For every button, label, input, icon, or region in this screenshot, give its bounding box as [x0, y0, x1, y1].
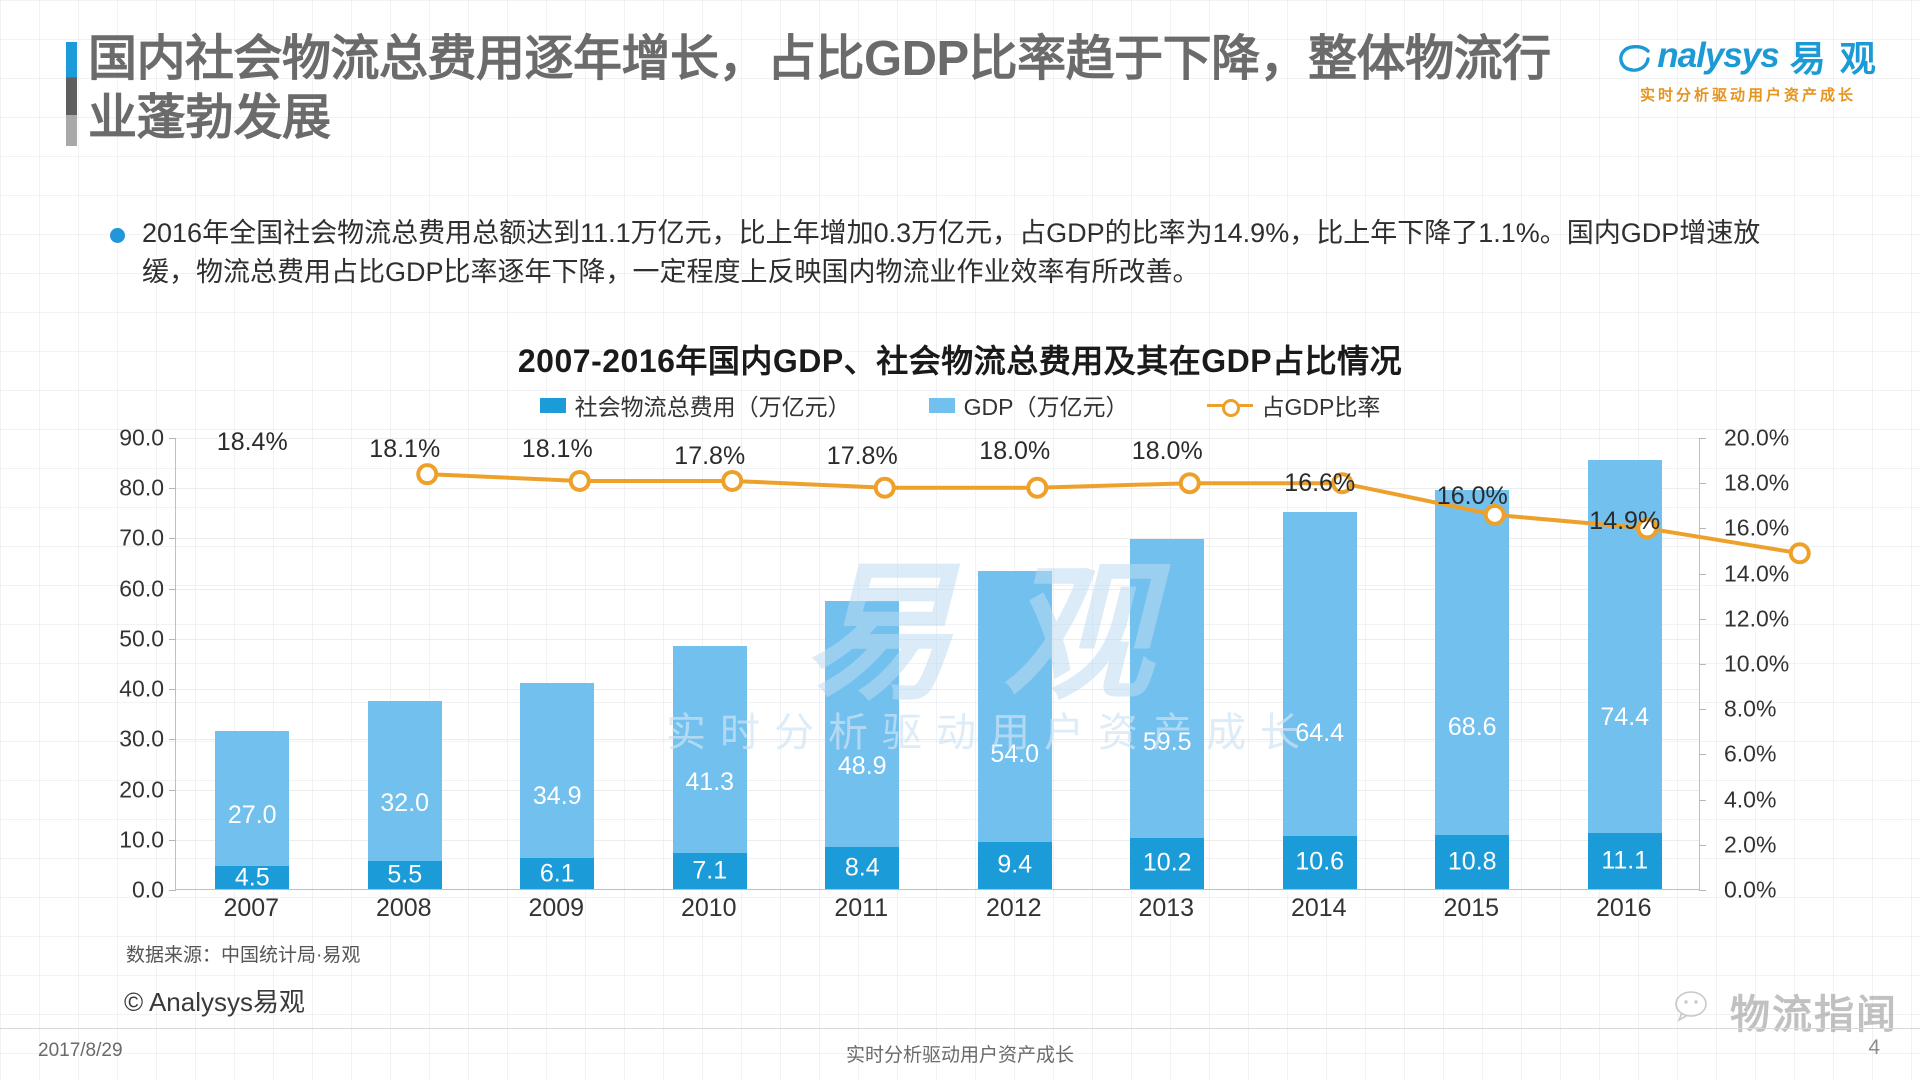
x-axis-labels: 2007200820092010201120122013201420152016 [175, 894, 1700, 934]
title-accent-bar [66, 42, 77, 146]
bullet-dot-icon [110, 228, 125, 243]
bar-label-gdp: 64.4 [1283, 719, 1357, 748]
y-axis-tick-left: 80.0 [119, 475, 164, 502]
legend-label-ratio: 占GDP比率 [1262, 388, 1381, 422]
bar-column: 34.96.1 [520, 683, 594, 889]
ratio-data-label: 16.6% [1284, 469, 1355, 498]
ratio-data-label: 16.0% [1437, 482, 1508, 511]
bar-column: 41.37.1 [673, 646, 747, 889]
y-axis-tick-right: 4.0% [1724, 786, 1776, 813]
bar-label-logistics: 4.5 [215, 863, 289, 892]
data-source-note: 数据来源：中国统计局·易观 [126, 940, 360, 967]
bar-segment-gdp: 48.9 [825, 601, 899, 847]
bar-segment-logistics: 6.1 [520, 858, 594, 889]
y-axis-right: 0.0%2.0%4.0%6.0%8.0%10.0%12.0%14.0%16.0%… [1718, 438, 1828, 890]
legend-item-logistics: 社会物流总费用（万亿元） [540, 388, 851, 422]
wechat-watermark-text: 物流指闻 [1730, 982, 1898, 1040]
bar-segment-logistics: 10.8 [1435, 835, 1509, 889]
bar-label-logistics: 10.6 [1283, 848, 1357, 877]
y-axis-tick-left: 40.0 [119, 676, 164, 703]
bar-label-gdp: 41.3 [673, 768, 747, 797]
axis-tickmark [169, 790, 176, 791]
y-axis-tick-left: 60.0 [119, 575, 164, 602]
bullet-paragraph: 2016年全国社会物流总费用总额达到11.1万亿元，比上年增加0.3万亿元，占G… [110, 214, 1810, 293]
footer-page-number: 4 [1868, 1036, 1880, 1060]
bar-column: 32.05.5 [368, 701, 442, 889]
plot-canvas: 27.04.532.05.534.96.141.37.148.98.454.09… [175, 438, 1700, 890]
legend-swatch-logistics-icon [540, 398, 566, 413]
chart-plot-area: 0.010.020.030.040.050.060.070.080.090.0 … [0, 438, 1920, 898]
axis-tickmark [1699, 890, 1706, 891]
wechat-icon [1674, 989, 1720, 1034]
y-axis-tick-right: 6.0% [1724, 741, 1776, 768]
x-axis-tick-label: 2007 [223, 894, 279, 923]
x-axis-tick-label: 2009 [528, 894, 584, 923]
bar-segment-logistics: 5.5 [368, 861, 442, 889]
logo-wordmark: nalysys易 观 [1616, 30, 1880, 82]
axis-tickmark [169, 639, 176, 640]
axis-tickmark [1699, 845, 1706, 846]
y-axis-tick-left: 30.0 [119, 726, 164, 753]
axis-tickmark [1699, 800, 1706, 801]
ratio-data-label: 18.1% [369, 435, 440, 464]
ratio-data-label: 18.0% [979, 437, 1050, 466]
bar-label-logistics: 11.1 [1588, 847, 1662, 876]
y-axis-tick-left: 10.0 [119, 826, 164, 853]
bar-label-logistics: 10.2 [1130, 849, 1204, 878]
axis-tickmark [169, 438, 176, 439]
bar-label-logistics: 5.5 [368, 861, 442, 890]
bar-column: 64.410.6 [1283, 512, 1357, 889]
bar-label-gdp: 32.0 [368, 789, 442, 818]
axis-tickmark [169, 538, 176, 539]
chart-title: 2007-2016年国内GDP、社会物流总费用及其在GDP占比情况 [0, 336, 1920, 382]
x-axis-tick-label: 2013 [1138, 894, 1194, 923]
bar-label-gdp: 68.6 [1435, 713, 1509, 742]
logo-chinese-text: 易 观 [1790, 30, 1878, 82]
y-axis-tick-right: 8.0% [1724, 696, 1776, 723]
y-axis-tick-right: 12.0% [1724, 605, 1789, 632]
bar-label-gdp: 48.9 [825, 752, 899, 781]
x-axis-tick-label: 2016 [1596, 894, 1652, 923]
legend-swatch-gdp-icon [929, 398, 955, 413]
bar-label-logistics: 7.1 [673, 857, 747, 886]
axis-tickmark [169, 739, 176, 740]
legend-item-ratio: 占GDP比率 [1207, 388, 1381, 422]
logo-tagline: 实时分析驱动用户资产成长 [1616, 84, 1880, 105]
bar-column: 27.04.5 [215, 731, 289, 889]
y-axis-tick-right: 20.0% [1724, 425, 1789, 452]
bar-segment-gdp: 34.9 [520, 683, 594, 858]
axis-tickmark [169, 488, 176, 489]
logo-analysys-text: nalysys [1657, 36, 1778, 76]
bar-segment-logistics: 9.4 [978, 842, 1052, 889]
y-axis-tick-left: 90.0 [119, 425, 164, 452]
bar-segment-logistics: 10.2 [1130, 838, 1204, 889]
bar-segment-logistics: 8.4 [825, 847, 899, 889]
y-axis-tick-right: 10.0% [1724, 651, 1789, 678]
bar-label-logistics: 8.4 [825, 853, 899, 882]
bar-label-logistics: 9.4 [978, 851, 1052, 880]
footer-tagline: 实时分析驱动用户资产成长 [0, 1040, 1920, 1067]
ratio-data-label: 18.1% [522, 435, 593, 464]
axis-tickmark [1699, 709, 1706, 710]
legend-label-gdp: GDP（万亿元） [964, 388, 1129, 422]
legend-swatch-ratio-icon [1207, 398, 1253, 412]
bar-segment-gdp: 64.4 [1283, 512, 1357, 835]
bar-label-gdp: 59.5 [1130, 728, 1204, 757]
footer-divider [0, 1028, 1920, 1029]
bar-label-logistics: 10.8 [1435, 847, 1509, 876]
bar-label-gdp: 27.0 [215, 801, 289, 830]
bullet-text: 2016年全国社会物流总费用总额达到11.1万亿元，比上年增加0.3万亿元，占G… [142, 214, 1810, 293]
bar-segment-logistics: 11.1 [1588, 833, 1662, 889]
axis-tickmark [1699, 483, 1706, 484]
bar-segment-logistics: 10.6 [1283, 836, 1357, 889]
bar-segment-gdp: 59.5 [1130, 539, 1204, 838]
analysys-logo: nalysys易 观 实时分析驱动用户资产成长 [1616, 30, 1880, 105]
y-axis-tick-right: 18.0% [1724, 470, 1789, 497]
y-axis-tick-right: 16.0% [1724, 515, 1789, 542]
bar-segment-gdp: 41.3 [673, 646, 747, 853]
analysys-swoosh-icon [1618, 42, 1652, 70]
bar-segment-gdp: 27.0 [215, 731, 289, 867]
y-axis-tick-left: 70.0 [119, 525, 164, 552]
bar-segment-gdp: 32.0 [368, 701, 442, 862]
chart-legend: 社会物流总费用（万亿元） GDP（万亿元） 占GDP比率 [0, 388, 1920, 422]
axis-tickmark [169, 840, 176, 841]
ratio-data-label: 17.8% [827, 442, 898, 471]
bar-label-logistics: 6.1 [520, 859, 594, 888]
bar-column: 48.98.4 [825, 601, 899, 889]
x-axis-tick-label: 2008 [376, 894, 432, 923]
legend-label-logistics: 社会物流总费用（万亿元） [575, 388, 851, 422]
axis-tickmark [1699, 619, 1706, 620]
bar-segment-logistics: 4.5 [215, 866, 289, 889]
page-title: 国内社会物流总费用逐年增长，占比GDP比率趋于下降，整体物流行业蓬勃发展 [88, 30, 1568, 148]
x-axis-tick-label: 2012 [986, 894, 1042, 923]
ratio-data-label: 17.8% [674, 442, 745, 471]
axis-tickmark [169, 689, 176, 690]
ratio-data-label: 18.4% [217, 428, 288, 457]
y-axis-tick-left: 20.0 [119, 776, 164, 803]
axis-tickmark [1699, 438, 1706, 439]
axis-tickmark [169, 890, 176, 891]
bar-column: 68.610.8 [1435, 490, 1509, 889]
wechat-watermark: 物流指闻 [1674, 982, 1898, 1040]
y-axis-tick-right: 14.0% [1724, 560, 1789, 587]
axis-tickmark [1699, 664, 1706, 665]
x-axis-tick-label: 2010 [681, 894, 737, 923]
y-axis-tick-right: 0.0% [1724, 877, 1776, 904]
x-axis-tick-label: 2014 [1291, 894, 1347, 923]
y-axis-tick-left: 0.0 [132, 877, 164, 904]
axis-tickmark [1699, 528, 1706, 529]
y-axis-tick-left: 50.0 [119, 625, 164, 652]
copyright-note: © Analysys易观 [124, 982, 305, 1019]
bar-label-gdp: 34.9 [520, 782, 594, 811]
bar-segment-gdp: 54.0 [978, 571, 1052, 842]
bar-segment-logistics: 7.1 [673, 853, 747, 889]
bar-label-gdp: 74.4 [1588, 703, 1662, 732]
x-axis-tick-label: 2015 [1443, 894, 1499, 923]
legend-item-gdp: GDP（万亿元） [929, 388, 1129, 422]
y-axis-left: 0.010.020.030.040.050.060.070.080.090.0 [108, 438, 170, 890]
bar-column: 54.09.4 [978, 571, 1052, 889]
axis-tickmark [1699, 574, 1706, 575]
ratio-data-label: 18.0% [1132, 437, 1203, 466]
bar-column: 59.510.2 [1130, 539, 1204, 889]
y-axis-tick-right: 2.0% [1724, 831, 1776, 858]
ratio-data-label: 14.9% [1589, 507, 1660, 536]
x-axis-tick-label: 2011 [834, 894, 888, 923]
bar-label-gdp: 54.0 [978, 740, 1052, 769]
axis-tickmark [1699, 754, 1706, 755]
bar-segment-gdp: 68.6 [1435, 490, 1509, 835]
slide-page: 国内社会物流总费用逐年增长，占比GDP比率趋于下降，整体物流行业蓬勃发展 nal… [0, 0, 1920, 1080]
axis-tickmark [169, 589, 176, 590]
